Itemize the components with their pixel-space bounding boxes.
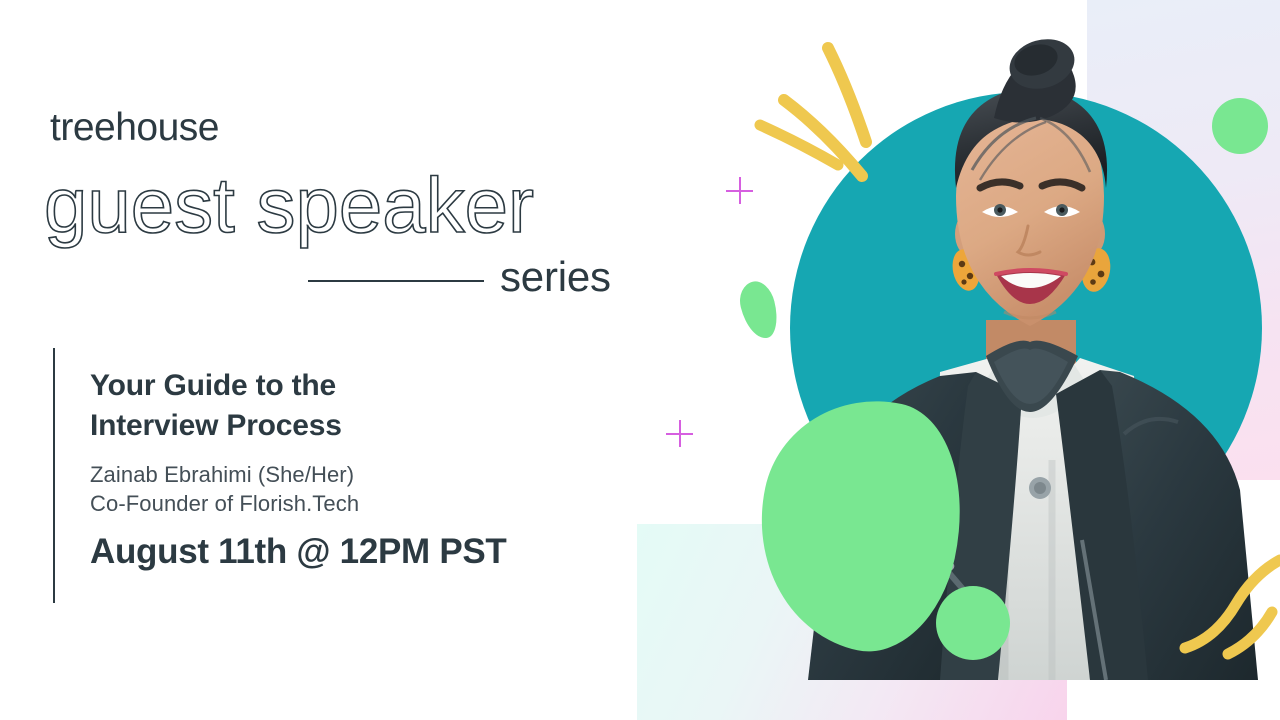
event-title-line-1: Your Guide to the (90, 366, 650, 406)
plus-mark-icon (726, 177, 753, 204)
event-title-line-2: Interview Process (90, 406, 650, 446)
headline-series: series (500, 256, 611, 298)
event-datetime: August 11th @ 12PM PST (90, 533, 650, 572)
green-bean-shape (735, 278, 782, 343)
speaker-name: Zainab Ebrahimi (She/Her) (90, 460, 650, 489)
headline-guest-speaker: guest speaker (44, 166, 534, 244)
plus-mark-icon (666, 420, 693, 447)
brand-logo-treehouse: treehouse (50, 108, 219, 147)
event-details: Your Guide to the Interview Process Zain… (90, 366, 650, 571)
slide-canvas: treehouse guest speaker series Your Guid… (0, 0, 1280, 720)
green-dot-bottom-shape (936, 586, 1010, 660)
event-accent-rule (53, 348, 55, 603)
speaker-role: Co-Founder of Florish.Tech (90, 489, 650, 518)
series-divider-rule (308, 280, 484, 282)
